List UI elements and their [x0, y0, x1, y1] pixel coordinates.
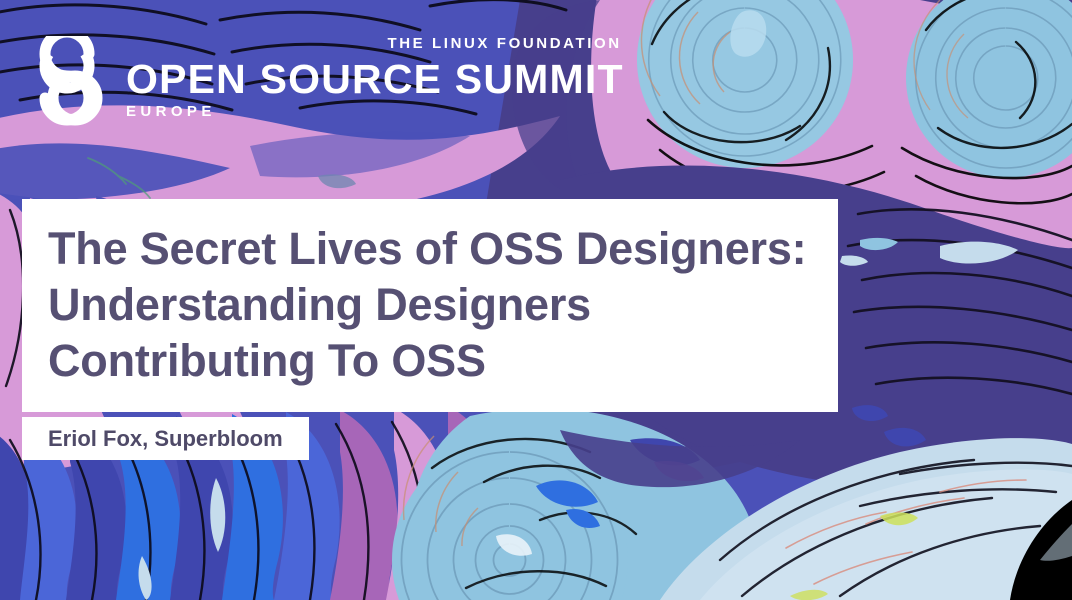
event-name-label: OPEN SOURCE SUMMIT — [126, 58, 624, 101]
linux-foundation-label: THE LINUX FOUNDATION — [387, 36, 621, 51]
event-logo-lockup: THE LINUX FOUNDATION OPEN SOURCE SUMMIT … — [36, 36, 624, 128]
slide-title: The Secret Lives of OSS Designers: Under… — [48, 221, 812, 388]
presentation-slide: THE LINUX FOUNDATION OPEN SOURCE SUMMIT … — [0, 0, 1072, 600]
title-card: The Secret Lives of OSS Designers: Under… — [22, 199, 838, 412]
event-region-label: EUROPE — [126, 104, 624, 119]
speaker-card: Eriol Fox, Superbloom — [22, 417, 309, 460]
open-source-summit-logo-icon — [36, 36, 114, 128]
speaker-name-label: Eriol Fox, Superbloom — [48, 428, 283, 450]
event-logo-text: THE LINUX FOUNDATION OPEN SOURCE SUMMIT … — [126, 36, 624, 119]
